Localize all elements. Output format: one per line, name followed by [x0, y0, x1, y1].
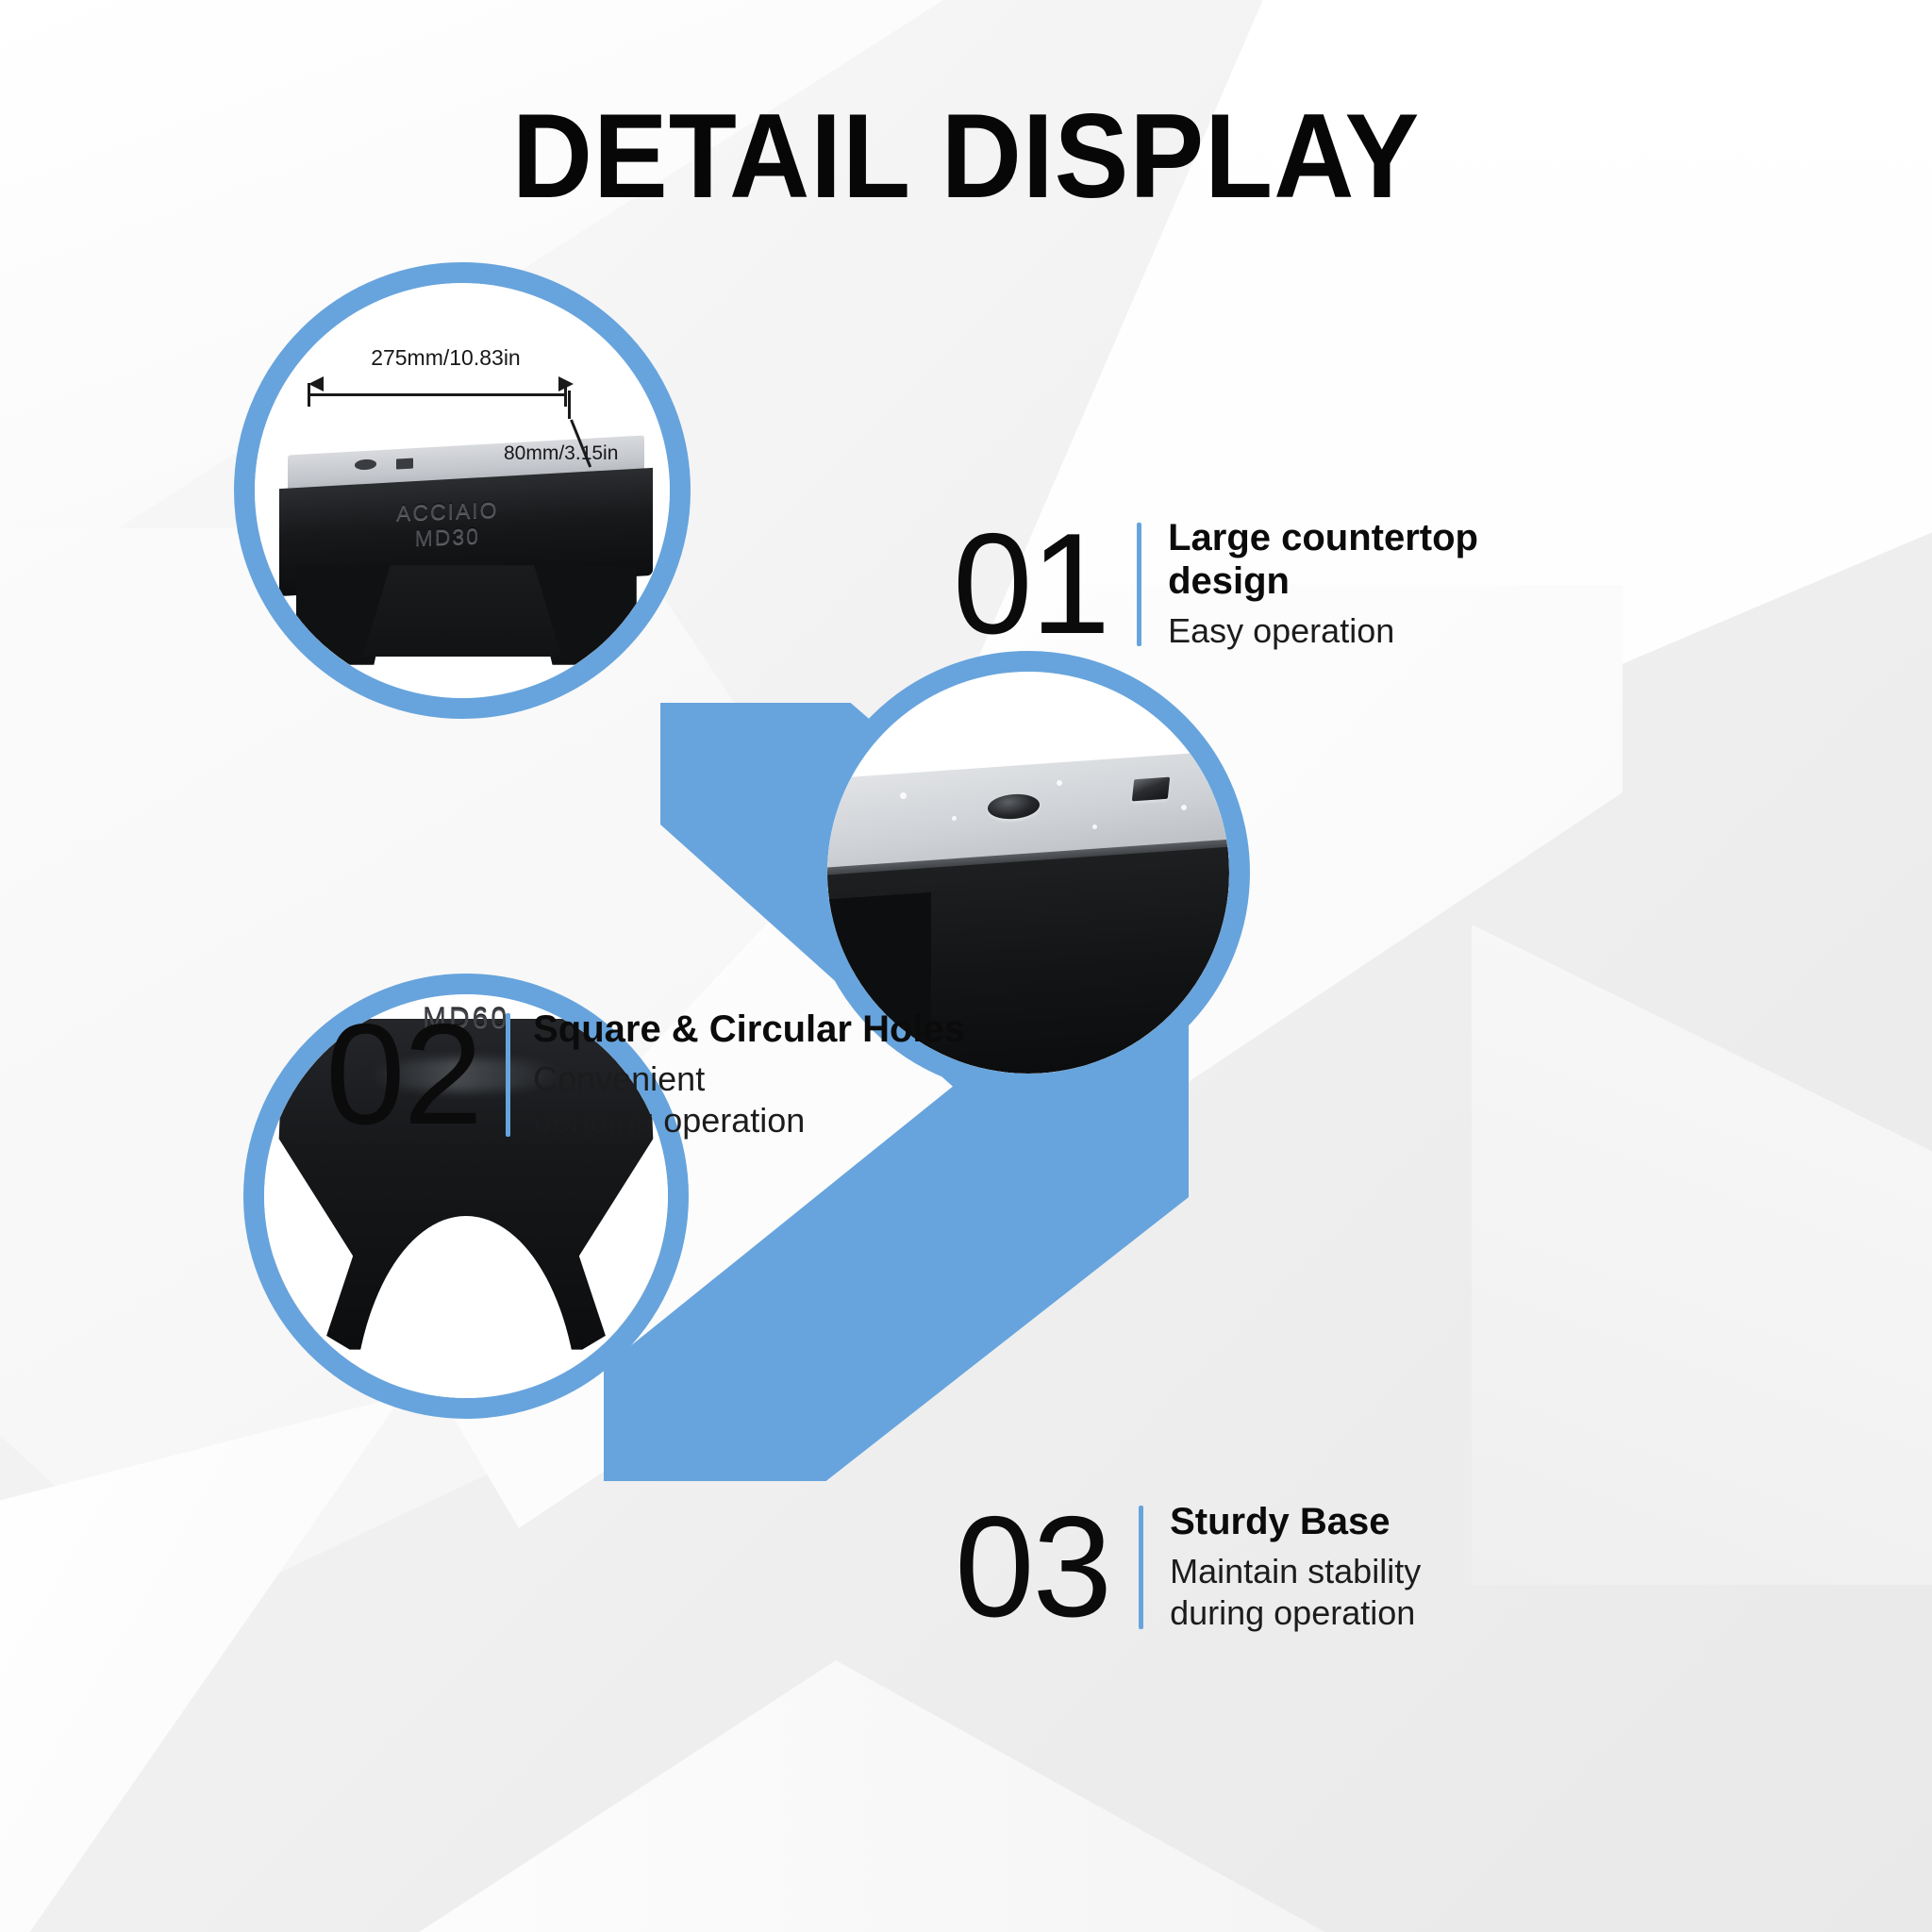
emboss-line-1: ACCIAIO	[396, 497, 499, 525]
feature-text-2: Square & Circular Holes Convenient bendi…	[533, 1008, 965, 1142]
page-title: DETAIL DISPLAY	[68, 87, 1865, 225]
dimension-arrow-right-icon	[558, 376, 574, 391]
feature-subtitle-3: Maintain stability during operation	[1170, 1551, 1421, 1634]
anvil-waist	[362, 565, 561, 657]
feature-subtitle-1: Easy operation	[1168, 610, 1478, 652]
surface-speck	[900, 792, 907, 799]
feature-number-03: 03	[955, 1500, 1110, 1635]
anvil-emboss-text: ACCIAIOMD30	[396, 497, 499, 552]
width-dimension-label: 275mm/10.83in	[371, 345, 521, 371]
feature-subtitle-2: Convenient bending operation	[533, 1058, 965, 1141]
emboss-line-2: MD30	[414, 524, 479, 550]
surface-speck	[1057, 780, 1062, 786]
dimension-arrow-left-icon	[308, 376, 324, 391]
feature-block-3: 03 Sturdy Base Maintain stability during…	[955, 1500, 1421, 1635]
height-dimension-label: 80mm/3.15in	[504, 442, 618, 465]
feature-title-1: Large countertop design	[1168, 517, 1478, 603]
feature-title-2: Square & Circular Holes	[533, 1008, 965, 1052]
detail-display-page: DETAIL DISPLAY ACCIAIOMD30 275mm/10.83in	[0, 0, 1932, 1932]
height-dimension-tick	[568, 391, 571, 419]
feature-number-01: 01	[953, 517, 1108, 652]
anvil-dimensions-photo: ACCIAIOMD30 275mm/10.83in 80mm/3.15in	[255, 283, 670, 698]
feature-number-02: 02	[325, 1008, 481, 1142]
photo-circle-1: ACCIAIOMD30 275mm/10.83in 80mm/3.15in	[234, 262, 691, 719]
feature-title-3: Sturdy Base	[1170, 1501, 1421, 1544]
feature-divider-2	[506, 1013, 510, 1137]
width-dimension-line	[308, 393, 566, 396]
feature-text-3: Sturdy Base Maintain stability during op…	[1170, 1500, 1421, 1635]
square-hole-closeup	[1132, 776, 1171, 801]
feature-text-1: Large countertop design Easy operation	[1168, 517, 1478, 652]
photo-1-frame: ACCIAIOMD30 275mm/10.83in 80mm/3.15in	[255, 283, 670, 698]
feature-block-1: 01 Large countertop design Easy operatio…	[953, 517, 1478, 652]
surface-speck	[1181, 805, 1187, 810]
feature-block-2: 02 Square & Circular Holes Convenient be…	[325, 1008, 965, 1142]
square-hole	[396, 458, 413, 469]
feature-divider-1	[1137, 523, 1141, 646]
feature-divider-3	[1139, 1506, 1143, 1629]
